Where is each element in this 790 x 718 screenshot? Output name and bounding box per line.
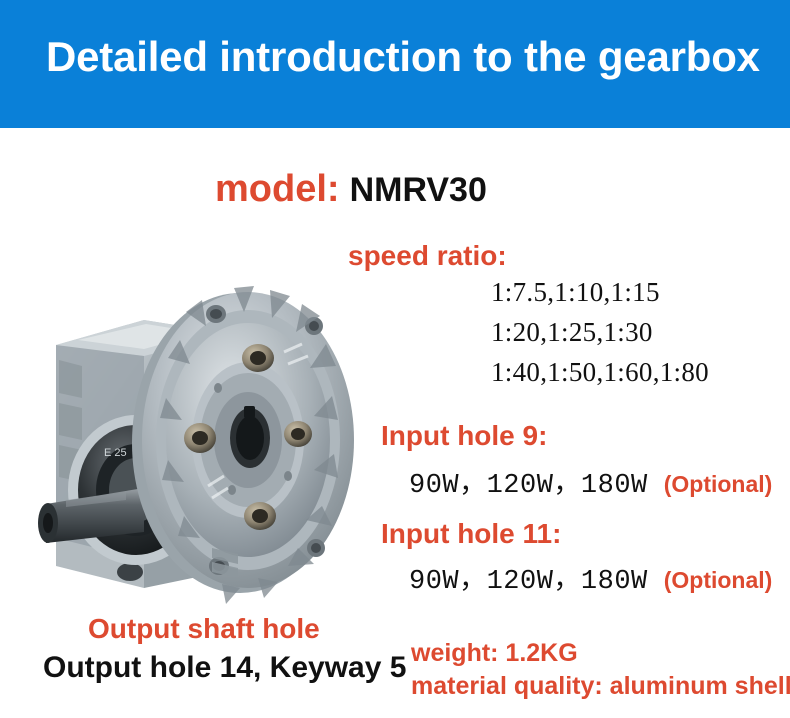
input-hole-11-power-row: 90W，120W，180W (Optional) [409,557,772,597]
input-hole-9-label: Input hole 9: [381,420,547,452]
model-row: model: NMRV30 [215,168,487,211]
model-value: NMRV30 [350,171,487,210]
input-hole-11-label: Input hole 11: [381,518,561,550]
model-label: model: [215,168,340,211]
output-shaft-hole-value: Output hole 14, Keyway 5 [43,651,406,685]
header-banner: Detailed introduction to the gearbox [0,0,790,128]
gearbox-product-image: E 25 47 [26,248,371,610]
page-title: Detailed introduction to the gearbox [46,33,760,81]
speed-ratio-line-1: 1:7.5,1:10,1:15 [491,277,660,308]
speed-ratio-label: speed ratio: [348,240,507,272]
speed-ratio-line-2: 1:20,1:25,1:30 [491,317,653,348]
weight-text: weight: 1.2KG [411,639,578,668]
input-hole-9-optional-tag: (Optional) [664,471,773,498]
input-hole-11-optional-tag: (Optional) [664,567,773,594]
speed-ratio-line-3: 1:40,1:50,1:60,1:80 [491,357,709,388]
input-hole-11-power-values: 90W，120W，180W [409,557,648,597]
material-quality-text: material quality: aluminum shell [411,672,790,701]
svg-text:E 25: E 25 [104,447,127,459]
input-hole-9-power-row: 90W，120W，180W (Optional) [409,461,772,501]
input-hole-9-power-values: 90W，120W，180W [409,461,648,501]
output-shaft-hole-label: Output shaft hole [88,613,320,645]
